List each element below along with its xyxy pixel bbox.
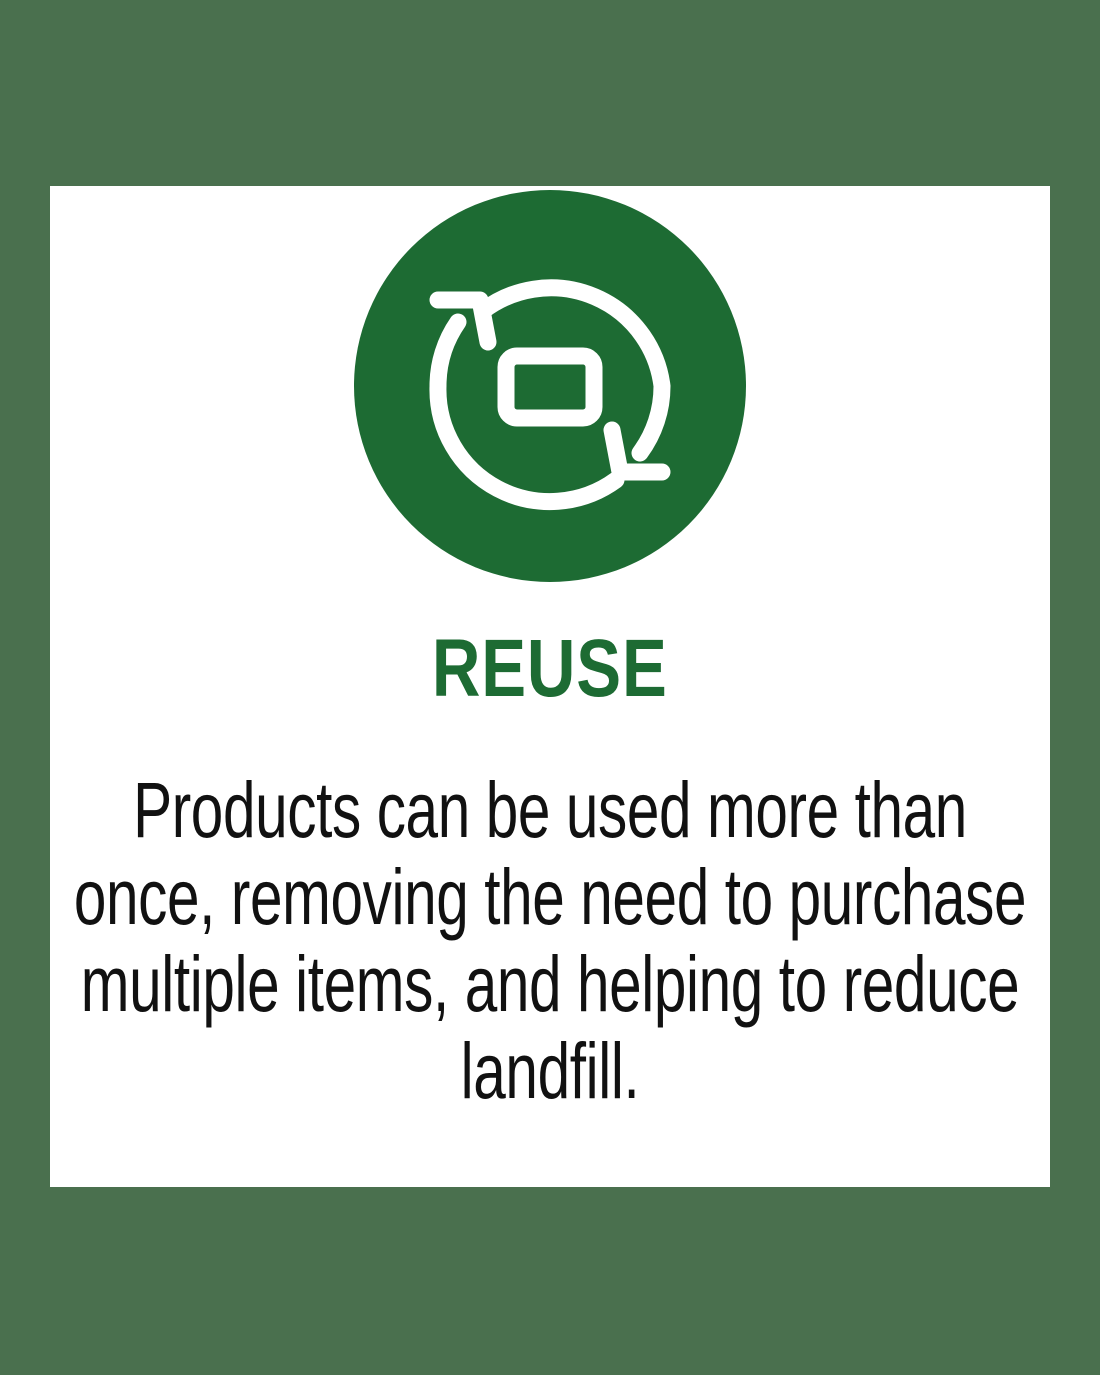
reuse-info-card: REUSE Products can be used more than onc… — [50, 186, 1050, 1187]
icon-container — [350, 190, 750, 582]
reuse-cycle-icon — [354, 190, 746, 582]
description-text: Products can be used more than once, rem… — [62, 766, 1039, 1114]
page-title: REUSE — [432, 628, 668, 710]
